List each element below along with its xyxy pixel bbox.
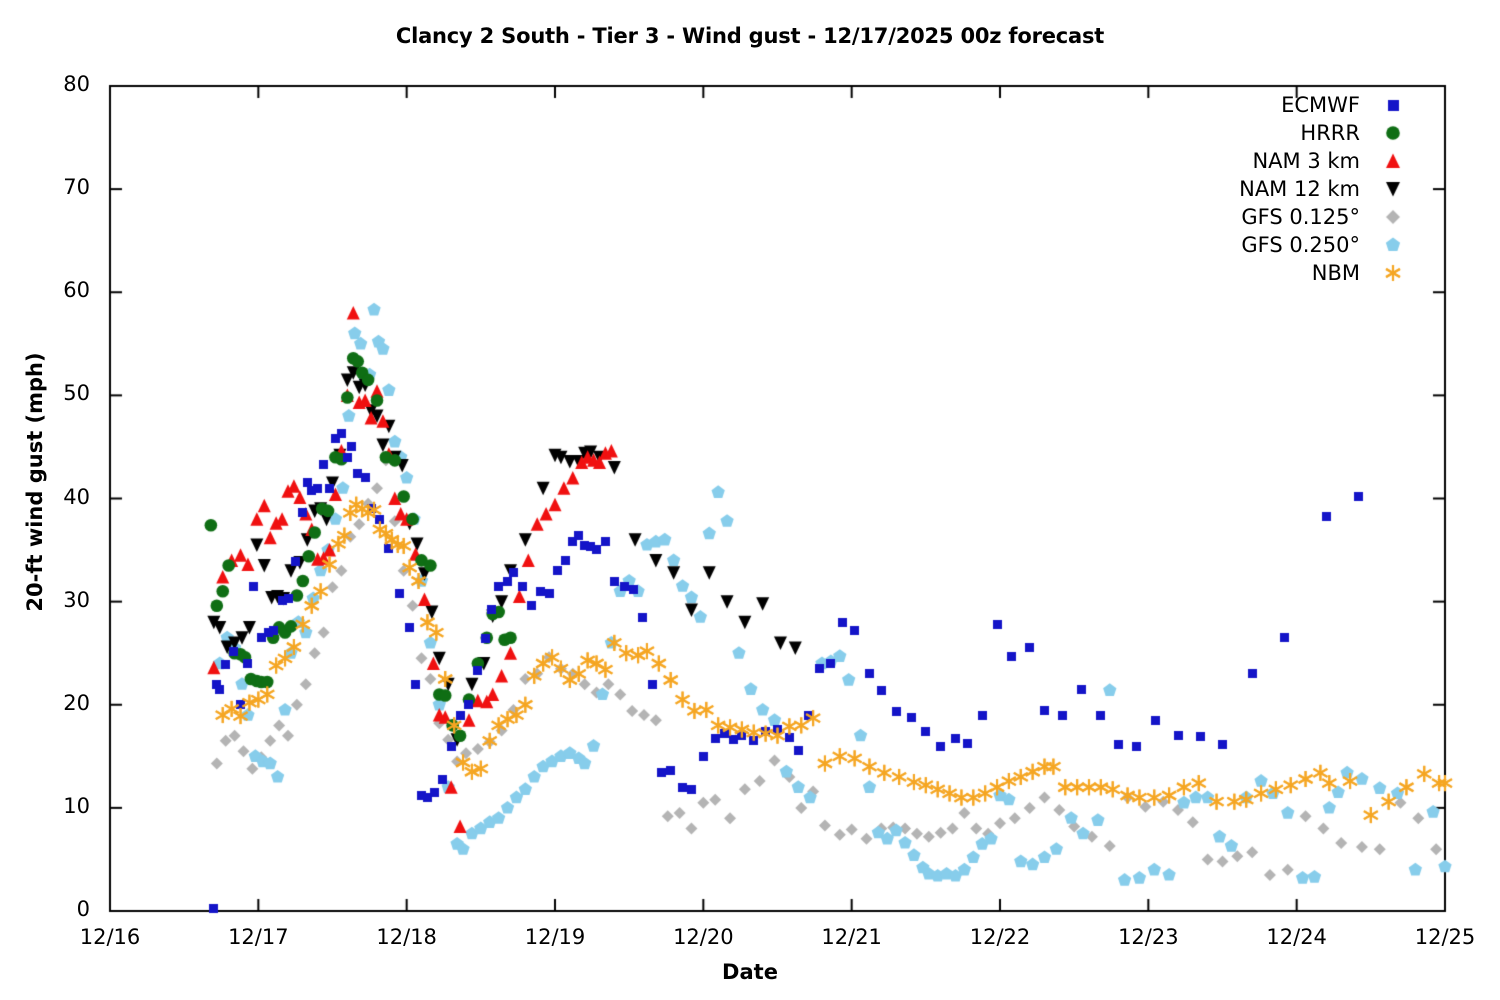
legend-label: GFS 0.125°: [1241, 205, 1360, 229]
x-tick-6: 12/22: [940, 925, 1060, 949]
x-tick-8: 12/24: [1237, 925, 1357, 949]
legend-marker-triangle-up-icon: [1376, 150, 1410, 172]
y-tick-60: 60: [20, 278, 90, 302]
x-tick-7: 12/23: [1088, 925, 1208, 949]
y-tick-50: 50: [20, 381, 90, 405]
x-tick-0: 12/16: [50, 925, 170, 949]
chart-legend: ECMWFHRRRNAM 3 kmNAM 12 kmGFS 0.125°GFS …: [1180, 92, 1410, 288]
y-tick-80: 80: [20, 72, 90, 96]
legend-marker-pentagon-icon: [1376, 234, 1410, 256]
legend-item-gfs-0-125[interactable]: GFS 0.125°: [1180, 204, 1410, 230]
y-tick-10: 10: [20, 794, 90, 818]
x-axis-label: Date: [0, 960, 1500, 984]
legend-item-ecmwf[interactable]: ECMWF: [1180, 92, 1410, 118]
y-tick-0: 0: [20, 897, 90, 921]
x-tick-3: 12/19: [495, 925, 615, 949]
legend-marker-square-icon: [1376, 94, 1410, 116]
legend-label: NAM 3 km: [1252, 149, 1360, 173]
x-tick-2: 12/18: [347, 925, 467, 949]
y-tick-40: 40: [20, 485, 90, 509]
legend-item-nam-12-km[interactable]: NAM 12 km: [1180, 176, 1410, 202]
x-tick-9: 12/25: [1385, 925, 1500, 949]
legend-marker-triangle-down-icon: [1376, 178, 1410, 200]
legend-item-nbm[interactable]: NBM: [1180, 260, 1410, 286]
legend-marker-circle-icon: [1376, 122, 1410, 144]
x-tick-4: 12/20: [643, 925, 763, 949]
y-tick-30: 30: [20, 588, 90, 612]
x-tick-1: 12/17: [198, 925, 318, 949]
y-tick-70: 70: [20, 175, 90, 199]
legend-label: GFS 0.250°: [1241, 233, 1360, 257]
legend-item-hrrr[interactable]: HRRR: [1180, 120, 1410, 146]
x-tick-5: 12/21: [792, 925, 912, 949]
y-tick-20: 20: [20, 691, 90, 715]
legend-label: HRRR: [1300, 121, 1360, 145]
legend-item-nam-3-km[interactable]: NAM 3 km: [1180, 148, 1410, 174]
legend-label: NAM 12 km: [1239, 177, 1360, 201]
legend-marker-asterisk-icon: [1376, 262, 1410, 284]
legend-label: NBM: [1312, 261, 1360, 285]
legend-item-gfs-0-250[interactable]: GFS 0.250°: [1180, 232, 1410, 258]
wind-gust-scatter-chart: Clancy 2 South - Tier 3 - Wind gust - 12…: [0, 0, 1500, 1000]
legend-label: ECMWF: [1281, 93, 1360, 117]
y-axis-label: 20-ft wind gust (mph): [23, 292, 47, 672]
legend-marker-diamond-icon: [1376, 206, 1410, 228]
